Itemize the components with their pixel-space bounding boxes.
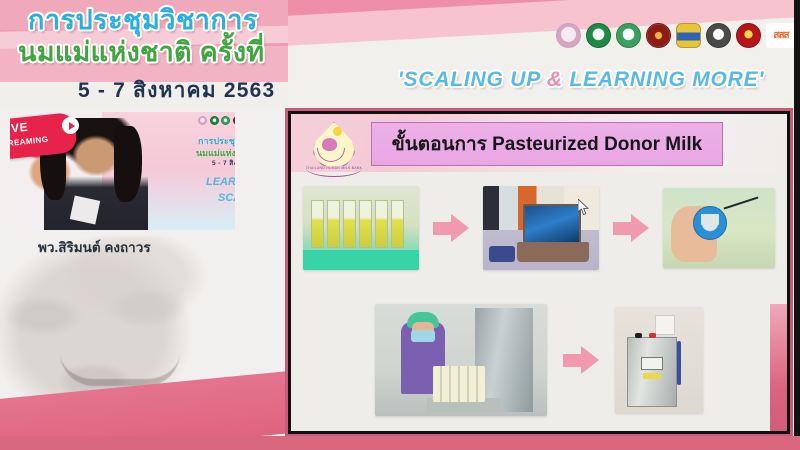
thumb-logo-1	[198, 116, 207, 125]
thumb-date: 5 - 7 สิงหาคม 2563	[212, 158, 235, 168]
slide-right-pink-band	[770, 304, 790, 434]
speaker-hair-right	[114, 126, 142, 202]
conference-title-line2: นมแม่แห่งชาติ ครั้งที่	[18, 38, 303, 66]
live-badge-top-text: VE	[10, 120, 28, 136]
photo-pasteurizer-machine	[615, 307, 703, 413]
photo-temperature-probe	[663, 188, 775, 268]
logo-red-emblem	[646, 23, 671, 48]
logo-blue-yellow-crest	[676, 23, 701, 48]
thumbnail-logo-strip	[198, 116, 235, 125]
conference-slogan: 'SCALING UP & LEARNING MORE'	[366, 68, 796, 92]
header-right: สสส 'SCALING UP & LEARNING MORE'	[288, 0, 800, 108]
logo-green-ring-1	[586, 23, 611, 48]
right-edge-border	[794, 0, 800, 450]
logo-red-crest	[736, 23, 761, 48]
conference-date: 5 - 7 สิงหาคม 2563	[78, 74, 275, 107]
thumb-slogan-a: LEARNING MOR	[206, 176, 235, 188]
bottom-pink-bar	[0, 436, 800, 450]
watermark-smile	[60, 352, 180, 386]
speaker-name-label: พว.สิริมนต์ คงถาวร	[38, 236, 258, 258]
milk-drop-highlight	[333, 127, 342, 136]
play-icon	[62, 117, 79, 134]
thumb-logo-3	[221, 116, 230, 125]
logo-grey-emblem	[706, 23, 731, 48]
arrow-icon-2	[613, 214, 649, 242]
arrow-icon-3	[563, 346, 599, 374]
slide-content: THAILAND HUMAN MILK BANK ขั้นตอนการ Past…	[288, 111, 790, 434]
logo-green-ring-2	[616, 23, 641, 48]
sponsor-logo-strip: สสส	[556, 23, 796, 48]
logo-ring-text: THAILAND HUMAN MILK BANK	[305, 166, 363, 170]
logo-thaihealth: สสส	[766, 23, 796, 48]
speaker-collar	[70, 196, 100, 225]
process-row-top	[291, 186, 787, 270]
thumb-logo-2	[210, 116, 219, 125]
slide-frame: THAILAND HUMAN MILK BANK ขั้นตอนการ Past…	[285, 108, 793, 437]
process-row-bottom	[291, 304, 787, 416]
slogan-suffix: LEARNING MORE'	[563, 68, 764, 91]
logo-royal-pink	[556, 23, 581, 48]
conference-title-line1: การประชุมวิชาการ	[28, 6, 290, 34]
photo-milk-bottles-racks	[303, 186, 419, 270]
live-badge-bottom-text: TREAMING	[10, 135, 49, 149]
slide-screenshot: การประชุมวิชาการ นมแม่แห่งชาติ ครั้งที่ …	[0, 0, 800, 450]
mouse-pointer	[578, 199, 590, 216]
thumb-slogan-b: SCALING U	[218, 192, 235, 204]
thumb-logo-4	[233, 116, 236, 125]
arrow-icon-1	[433, 214, 469, 242]
speaker-video-thumbnail[interactable]: การประชุมวิชาการ นมแม่แห่งชาติ ครั้งที่ …	[10, 112, 235, 230]
human-milk-bank-drop-logo: THAILAND HUMAN MILK BANK	[305, 118, 363, 178]
slide-title-banner: ขั้นตอนการ Pasteurized Donor Milk	[371, 122, 723, 166]
slide-title-text: ขั้นตอนการ Pasteurized Donor Milk	[392, 129, 702, 159]
photo-nurse-bottles-hood	[375, 304, 547, 416]
slogan-prefix: 'SCALING UP	[398, 68, 547, 91]
slogan-ampersand: &	[547, 68, 563, 91]
